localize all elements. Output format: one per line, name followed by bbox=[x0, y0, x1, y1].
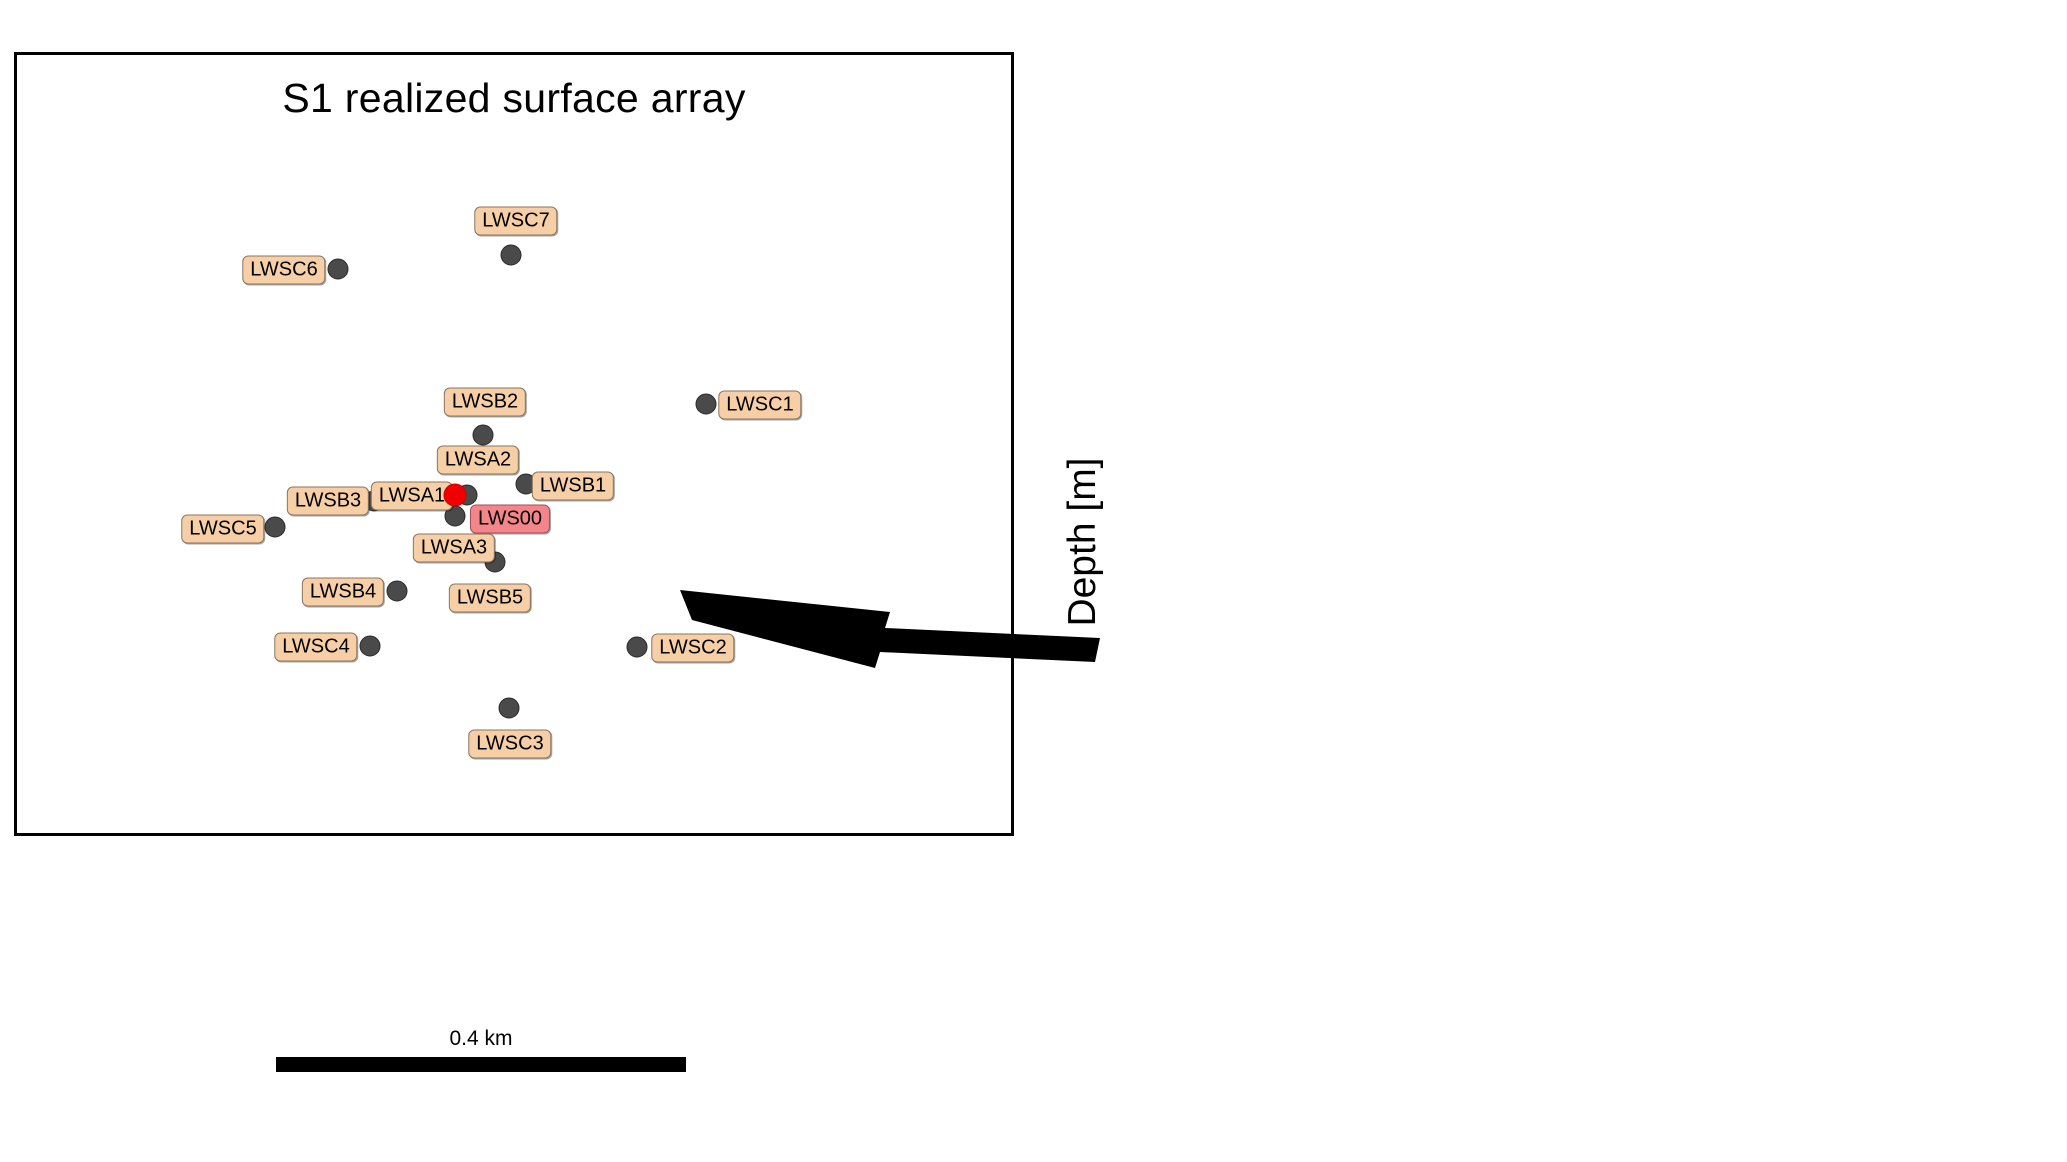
station-dot-lwsc6 bbox=[328, 259, 349, 280]
scale-bar-label: 0.4 km bbox=[276, 1027, 686, 1051]
station-dot-lwsc1 bbox=[696, 394, 717, 415]
station-label-lwsb5: LWSB5 bbox=[449, 584, 531, 613]
station-label-lwsc5: LWSC5 bbox=[181, 515, 264, 544]
depth-tick-label-400: 400 bbox=[2043, 1027, 2067, 1065]
station-label-lwsc3: LWSC3 bbox=[468, 730, 551, 759]
depth-tick-label-0: 0 bbox=[2043, 17, 2067, 55]
station-label-lwsb4: LWSB4 bbox=[302, 578, 384, 607]
station-dot-lwsc7 bbox=[501, 245, 522, 266]
depth-tick-label-300: 300 bbox=[2043, 775, 2067, 813]
scale-bar bbox=[276, 1057, 686, 1072]
station-label-lwsb3: LWSB3 bbox=[287, 487, 369, 516]
station-label-lwsc4: LWSC4 bbox=[274, 633, 357, 662]
depth-axis-title: Depth [m] bbox=[1061, 262, 1105, 822]
station-label-lwsa2: LWSA2 bbox=[437, 446, 519, 475]
station-label-lwsb1: LWSB1 bbox=[532, 472, 614, 501]
station-dot-lwsb4 bbox=[387, 581, 408, 602]
station-label-lwsc2: LWSC2 bbox=[651, 634, 734, 663]
station-label-lws00: LWS00 bbox=[470, 505, 550, 534]
depth-tick-label-100: 100 bbox=[2043, 270, 2067, 308]
station-label-lwsc7: LWSC7 bbox=[474, 207, 557, 236]
station-dot-lwsc3 bbox=[499, 698, 520, 719]
station-label-lwsc6: LWSC6 bbox=[242, 256, 325, 285]
depth-tick-label-200: 200 bbox=[2043, 522, 2067, 560]
station-label-lwsb2: LWSB2 bbox=[444, 388, 526, 417]
station-label-lwsa1: LWSA1 bbox=[371, 482, 453, 511]
station-dot-lwsb2 bbox=[473, 425, 494, 446]
station-dot-lwsc5 bbox=[265, 517, 286, 538]
station-dot-lwsc2 bbox=[627, 637, 648, 658]
borehole-array-panel: Depth [m] 0100200300400 surface S1 boreh… bbox=[1040, 0, 2067, 1162]
surface-array-title: S1 realized surface array bbox=[17, 75, 1011, 122]
station-dot-lwsc4 bbox=[360, 636, 381, 657]
station-label-lwsa3: LWSA3 bbox=[413, 534, 495, 563]
station-label-lwsc1: LWSC1 bbox=[718, 391, 801, 420]
station-dot-lws00 bbox=[444, 484, 467, 507]
